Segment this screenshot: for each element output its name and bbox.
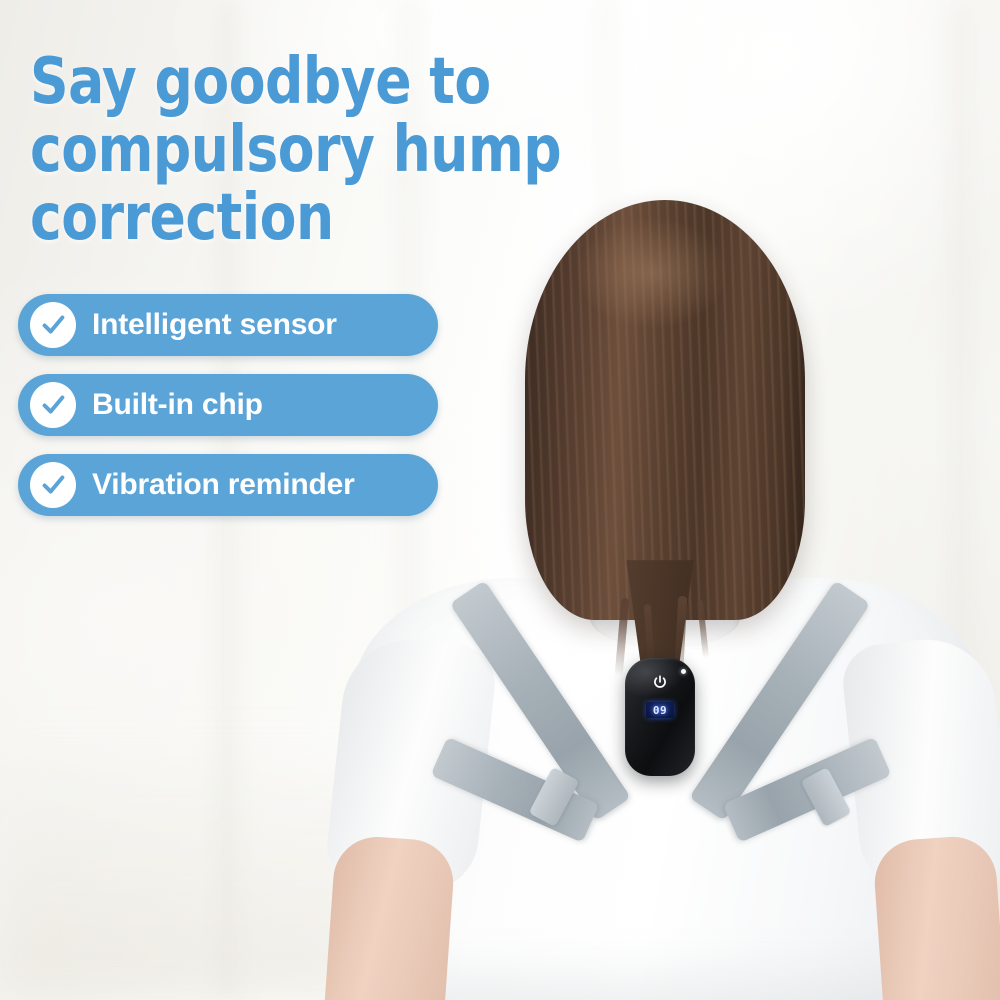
arm-left	[324, 834, 456, 1000]
posture-corrector-device: 09	[625, 658, 695, 776]
device-display: 09	[646, 702, 674, 718]
feature-pill-built-in-chip[interactable]: Built-in chip	[18, 374, 438, 436]
check-circle-icon	[30, 302, 76, 348]
arm-right	[872, 834, 1000, 1000]
check-circle-icon	[30, 382, 76, 428]
product-banner: 09 Say goodbye to compulsory hump correc…	[0, 0, 1000, 1000]
feature-list: Intelligent sensor Built-in chip Vibrati…	[18, 294, 438, 534]
feature-label: Intelligent sensor	[92, 308, 337, 342]
feature-label: Vibration reminder	[92, 468, 355, 502]
page-title: Say goodbye to compulsory hump correctio…	[30, 48, 625, 252]
hair	[525, 200, 805, 620]
led-indicator-icon	[681, 669, 686, 674]
check-circle-icon	[30, 462, 76, 508]
device-display-value: 09	[653, 705, 667, 716]
feature-pill-vibration-reminder[interactable]: Vibration reminder	[18, 454, 438, 516]
power-icon	[652, 674, 669, 691]
feature-pill-intelligent-sensor[interactable]: Intelligent sensor	[18, 294, 438, 356]
feature-label: Built-in chip	[92, 388, 263, 422]
